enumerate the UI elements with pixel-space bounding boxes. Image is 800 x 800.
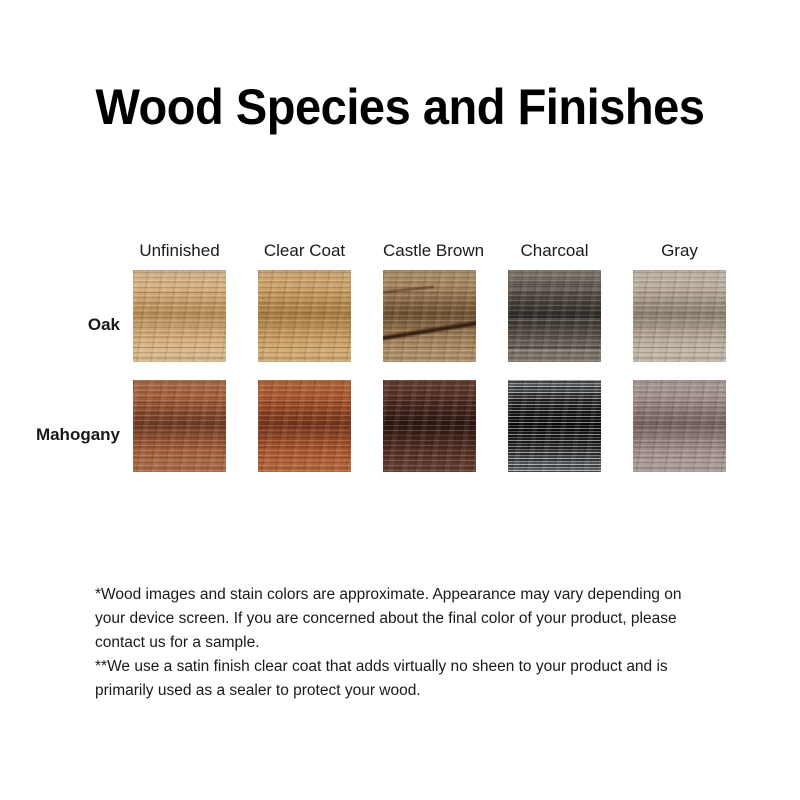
grain-overlay-secondary bbox=[258, 380, 351, 472]
swatch-cell-mahogany-charcoal bbox=[508, 380, 633, 490]
metallic-fiber-overlay bbox=[508, 380, 601, 472]
knot-streak-icon bbox=[383, 318, 476, 343]
swatch-mahogany-clear-coat[interactable] bbox=[258, 380, 351, 472]
swatch-oak-clear-coat[interactable] bbox=[258, 270, 351, 362]
footnotes: *Wood images and stain colors are approx… bbox=[95, 583, 707, 703]
swatch-cell-mahogany-unfinished bbox=[133, 380, 258, 490]
grain-overlay bbox=[133, 380, 226, 472]
page-title: Wood Species and Finishes bbox=[24, 76, 776, 138]
swatch-cell-oak-castle-brown bbox=[383, 270, 508, 380]
wood-swatch-grid: Unfinished Clear Coat Castle Brown Charc… bbox=[0, 232, 800, 490]
vignette-overlay bbox=[133, 380, 226, 472]
footnote-colors-approximate: *Wood images and stain colors are approx… bbox=[95, 583, 707, 655]
grain-overlay bbox=[508, 270, 601, 362]
grain-overlay bbox=[383, 270, 476, 362]
grain-overlay-secondary bbox=[258, 270, 351, 362]
vignette-overlay bbox=[258, 270, 351, 362]
swatch-cell-mahogany-clear-coat bbox=[258, 380, 383, 490]
grain-overlay bbox=[633, 380, 726, 472]
column-header-label: Unfinished bbox=[133, 241, 226, 261]
column-header-row: Unfinished Clear Coat Castle Brown Charc… bbox=[0, 232, 758, 270]
swatch-mahogany-unfinished[interactable] bbox=[133, 380, 226, 472]
column-header-label: Gray bbox=[633, 241, 726, 261]
swatch-table: Unfinished Clear Coat Castle Brown Charc… bbox=[0, 232, 758, 490]
grain-overlay bbox=[133, 270, 226, 362]
grid-corner-cell bbox=[0, 232, 133, 270]
vignette-overlay bbox=[383, 380, 476, 472]
footnote-satin-clear-coat: **We use a satin finish clear coat that … bbox=[95, 655, 707, 703]
grain-overlay-secondary bbox=[633, 380, 726, 472]
column-header-unfinished: Unfinished bbox=[133, 232, 258, 270]
swatch-cell-mahogany-castle-brown bbox=[383, 380, 508, 490]
grain-overlay-secondary bbox=[633, 270, 726, 362]
column-header-clear-coat: Clear Coat bbox=[258, 232, 383, 270]
column-header-label: Castle Brown bbox=[383, 241, 476, 261]
vignette-overlay bbox=[508, 270, 601, 362]
column-header-label: Clear Coat bbox=[258, 241, 351, 261]
band-overlay bbox=[508, 270, 601, 362]
vignette-overlay bbox=[258, 380, 351, 472]
vignette-overlay bbox=[508, 380, 601, 472]
swatch-mahogany-gray[interactable] bbox=[633, 380, 726, 472]
row-header-mahogany: Mahogany bbox=[0, 380, 133, 490]
column-header-gray: Gray bbox=[633, 232, 758, 270]
vignette-overlay bbox=[633, 270, 726, 362]
swatch-cell-oak-charcoal bbox=[508, 270, 633, 380]
grain-overlay bbox=[383, 380, 476, 472]
swatch-oak-unfinished[interactable] bbox=[133, 270, 226, 362]
vignette-overlay bbox=[133, 270, 226, 362]
swatch-mahogany-charcoal[interactable] bbox=[508, 380, 601, 472]
swatch-oak-charcoal[interactable] bbox=[508, 270, 601, 362]
grain-overlay-secondary bbox=[508, 270, 601, 362]
column-header-castle-brown: Castle Brown bbox=[383, 232, 508, 270]
table-row-mahogany: Mahogany bbox=[0, 380, 758, 490]
swatch-mahogany-castle-brown[interactable] bbox=[383, 380, 476, 472]
swatch-cell-mahogany-gray bbox=[633, 380, 758, 490]
vignette-overlay bbox=[383, 270, 476, 362]
grain-overlay-secondary bbox=[508, 380, 601, 472]
grain-overlay bbox=[258, 270, 351, 362]
knot-streak-upper bbox=[383, 285, 434, 295]
vignette-overlay bbox=[633, 380, 726, 472]
swatch-oak-gray[interactable] bbox=[633, 270, 726, 362]
swatch-cell-oak-clear-coat bbox=[258, 270, 383, 380]
grain-overlay bbox=[633, 270, 726, 362]
grain-overlay bbox=[258, 380, 351, 472]
grain-overlay-secondary bbox=[133, 270, 226, 362]
swatch-oak-castle-brown[interactable] bbox=[383, 270, 476, 362]
grain-overlay-secondary bbox=[383, 270, 476, 362]
grain-overlay-secondary bbox=[133, 380, 226, 472]
swatch-cell-oak-gray bbox=[633, 270, 758, 380]
column-header-charcoal: Charcoal bbox=[508, 232, 633, 270]
table-row-oak: Oak bbox=[0, 270, 758, 380]
column-header-label: Charcoal bbox=[508, 241, 601, 261]
row-header-oak: Oak bbox=[0, 270, 133, 380]
grain-overlay-secondary bbox=[383, 380, 476, 472]
swatch-cell-oak-unfinished bbox=[133, 270, 258, 380]
